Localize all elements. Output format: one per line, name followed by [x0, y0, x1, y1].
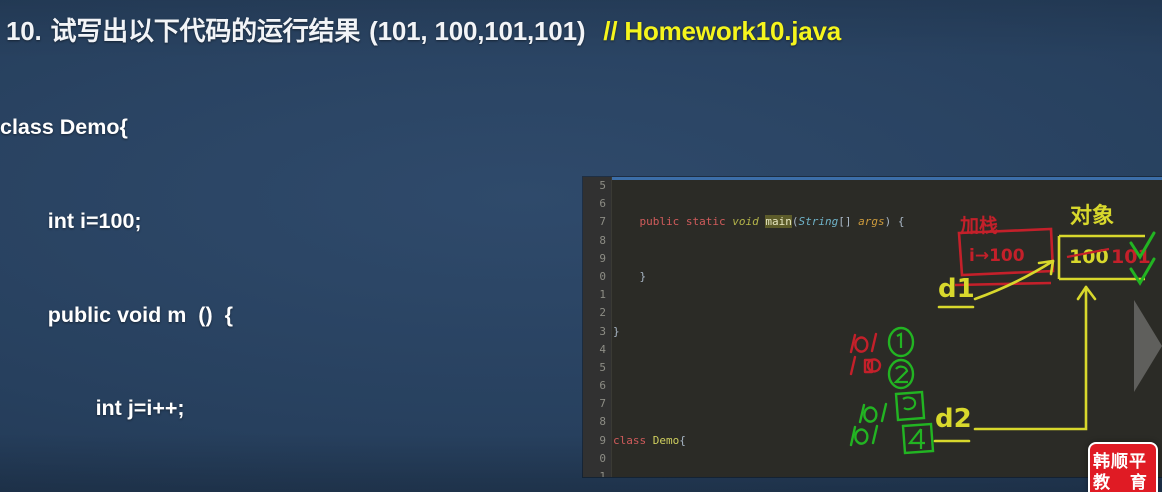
- ide-line-number-gutter: 5 6 7 8 9 0 1 2 3 4 5 6 7 8 9 0 1: [583, 177, 612, 477]
- slide-screenshot: 10.试写出以下代码的运行结果(101, 100,101,101)// Home…: [0, 0, 1162, 492]
- watermark-badge: 韩顺平 教 育: [1088, 442, 1158, 492]
- title-file-comment: // Homework10.java: [603, 16, 841, 46]
- ide-code-line: [613, 377, 944, 395]
- page-title: 10.试写出以下代码的运行结果(101, 100,101,101)// Home…: [6, 11, 841, 48]
- line-number: 7: [583, 395, 611, 413]
- ide-code-area[interactable]: public static void main(String[] args) {…: [613, 177, 944, 477]
- line-number: 1: [583, 468, 611, 477]
- line-number: 0: [583, 268, 611, 286]
- line-number: 0: [583, 450, 611, 468]
- title-answer: (101, 100,101,101): [369, 16, 585, 46]
- line-number: 5: [583, 177, 611, 195]
- line-number: 8: [583, 232, 611, 250]
- line-number: 1: [583, 286, 611, 304]
- line-number: 6: [583, 195, 611, 213]
- ide-code-line: class Demo{: [613, 432, 944, 450]
- line-number: 4: [583, 341, 611, 359]
- ide-code-line: }: [613, 268, 944, 286]
- line-number: 7: [583, 213, 611, 231]
- ide-code-line: public static void main(String[] args) {: [613, 213, 944, 231]
- line-number: 9: [583, 432, 611, 450]
- line-number: 2: [583, 304, 611, 322]
- code-line: public void m () {: [0, 300, 430, 331]
- line-number: 6: [583, 377, 611, 395]
- line-number: 8: [583, 413, 611, 431]
- title-number: 10.: [6, 16, 42, 46]
- title-question: 试写出以下代码的运行结果: [51, 16, 361, 46]
- slide-code-block: class Demo{ int i=100; public void m () …: [0, 50, 430, 492]
- ide-code-line: }: [613, 323, 944, 341]
- line-number: 3: [583, 323, 611, 341]
- code-line: int i=100;: [0, 206, 430, 237]
- line-number: 9: [583, 250, 611, 268]
- code-line: class Demo{: [0, 112, 430, 143]
- code-line: int j=i++;: [0, 393, 430, 424]
- watermark-line-2: 教 育: [1093, 468, 1154, 492]
- line-number: 5: [583, 359, 611, 377]
- embedded-ide-screenshot: 5 6 7 8 9 0 1 2 3 4 5 6 7 8 9 0 1 public…: [583, 177, 1162, 477]
- chevron-right-icon[interactable]: [1132, 300, 1162, 392]
- code-line: System.out.println("i="+i);: [0, 487, 430, 492]
